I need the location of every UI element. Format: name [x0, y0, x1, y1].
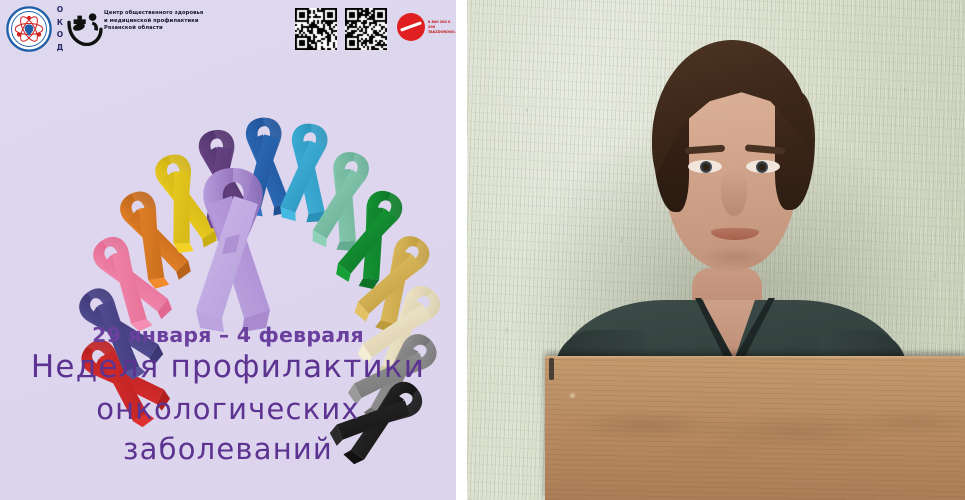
poster-dates: 29 января – 4 февраля	[0, 323, 456, 347]
okod-letter: Д	[57, 44, 64, 52]
public-health-center-logo	[66, 8, 104, 46]
screenshot-root: О К О Д Центр общественного здоровья и м…	[0, 0, 965, 500]
eye-left	[688, 160, 722, 173]
public-health-center-text: Центр общественного здоровья и медицинск…	[104, 10, 214, 33]
okod-letters: О К О Д	[54, 6, 66, 52]
panel-divider	[456, 0, 467, 500]
poster-title-line-2: онкологических	[0, 392, 456, 426]
awareness-ribbon-large	[178, 142, 288, 332]
iris-right	[756, 161, 768, 173]
poster-title-line-1: Неделя профилактики	[0, 349, 456, 385]
center-text-line: Центр общественного здоровья	[104, 10, 214, 18]
desk-wood-grain	[545, 356, 965, 500]
no-smoking-text: 8 800 200 0 200 TAKZDOROVO.RU	[428, 20, 456, 35]
qr-code-1[interactable]	[295, 8, 337, 50]
poster-title-line-3: заболеваний	[0, 432, 456, 466]
desk-nail	[569, 392, 576, 399]
chin-shadow	[699, 246, 771, 268]
okod-letter: О	[57, 31, 63, 39]
desk-corner-tack	[549, 358, 554, 380]
prevention-week-poster: О К О Д Центр общественного здоровья и м…	[0, 0, 456, 500]
nose	[721, 170, 747, 216]
doctor-portrait-photo	[467, 0, 965, 500]
center-text-line: Рязанской области	[104, 25, 214, 33]
no-smoking-badge: 8 800 200 0 200 TAKZDOROVO.RU	[397, 12, 456, 42]
okod-emblem	[6, 4, 52, 54]
hotline-site: TAKZDOROVO.RU	[428, 30, 456, 35]
okod-letter: К	[57, 19, 63, 27]
hotline-number: 8 800 200 0 200	[428, 20, 456, 30]
eye-right	[746, 160, 780, 173]
okod-letter: О	[57, 6, 63, 14]
qr-code-2[interactable]	[345, 8, 387, 50]
wooden-desk-panel	[545, 356, 965, 500]
poster-header: О К О Д Центр общественного здоровья и м…	[0, 0, 456, 58]
iris-left	[700, 161, 712, 173]
